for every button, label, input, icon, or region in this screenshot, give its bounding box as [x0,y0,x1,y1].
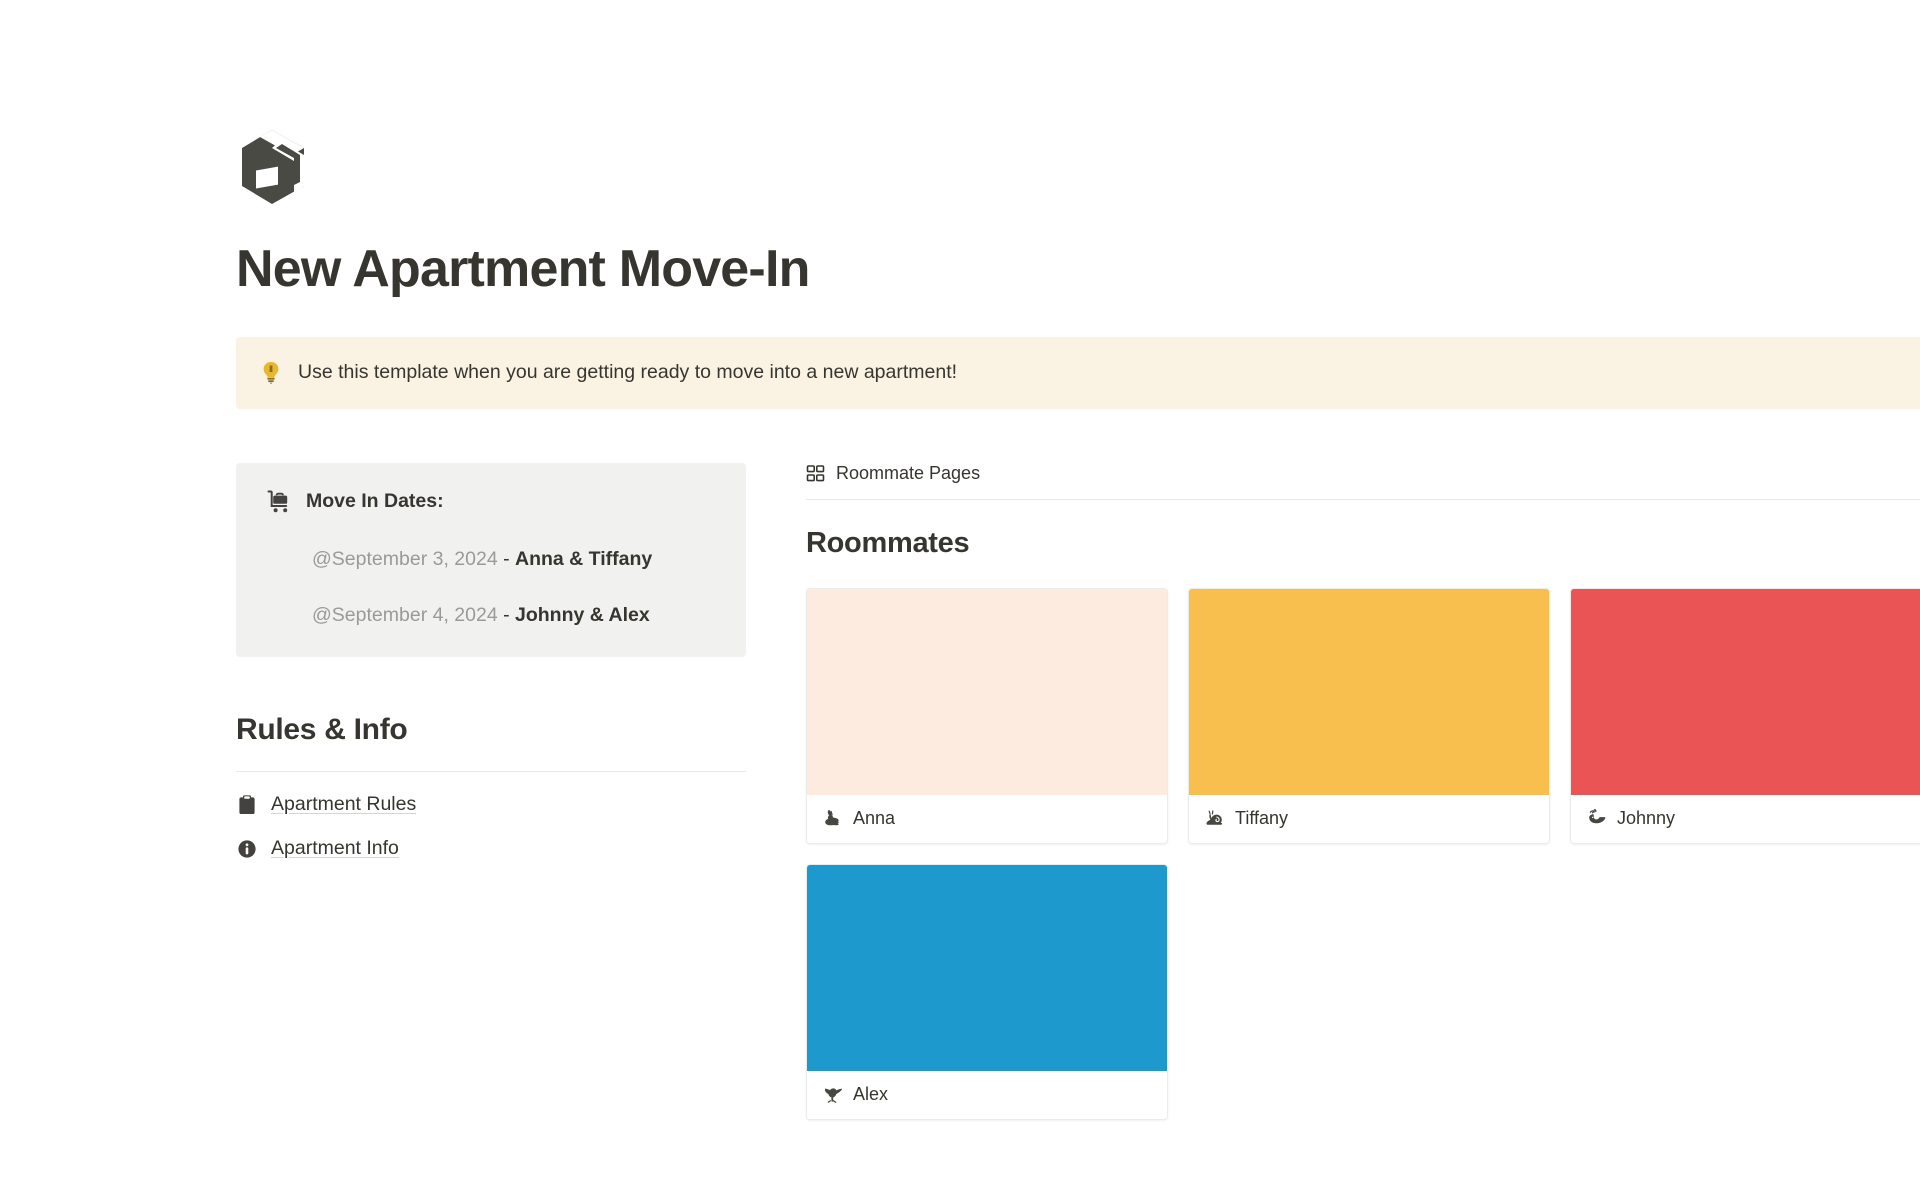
box-cube-icon[interactable] [236,128,308,208]
move-in-date-row: @September 4, 2024 - Johnny & Alex [266,604,716,627]
page-content: New Apartment Move-In Use this template … [110,128,1810,1120]
move-in-names: Johnny & Alex [515,604,650,626]
card-label: Anna [807,795,1167,843]
luggage-cart-icon [266,489,292,515]
rules-info-heading: Rules & Info [236,713,746,747]
divider [236,771,746,772]
gallery-card[interactable]: Johnny [1570,588,1920,844]
sidebar-link-label: Apartment Rules [271,793,416,816]
sidebar-link-apartment-info[interactable]: Apartment Info [236,837,746,860]
card-name: Tiffany [1235,808,1288,829]
tab-roommate-pages[interactable]: Roommate Pages [806,463,980,484]
callout-text: Use this template when you are getting r… [298,359,957,385]
info-circle-icon [236,838,258,860]
move-in-date[interactable]: @September 3, 2024 [312,548,498,570]
gallery-card[interactable]: Alex [806,864,1168,1120]
rabbit-icon [823,808,843,828]
sidebar-link-apartment-rules[interactable]: Apartment Rules [236,793,746,816]
move-in-dates-header: Move In Dates: [266,489,716,515]
card-name: Johnny [1617,808,1675,829]
roommates-gallery: Anna [806,588,1920,1120]
move-in-date[interactable]: @September 4, 2024 [312,604,498,626]
move-in-dates-title: Move In Dates: [306,490,444,513]
whale-icon [1587,808,1607,828]
lightbulb-icon [260,360,282,384]
right-column: Roommate Pages Roommates [746,463,1920,1120]
page-title: New Apartment Move-In [236,241,1684,298]
clipboard-icon [236,794,258,816]
callout-banner: Use this template when you are getting r… [236,337,1920,408]
gallery-card[interactable]: Anna [806,588,1168,844]
card-name: Alex [853,1084,888,1105]
gallery-grid-icon [806,464,825,483]
gallery-card[interactable]: Tiffany [1188,588,1550,844]
roommate-pages-tabbar: Roommate Pages [806,463,1920,500]
notion-page: New Apartment Move-In Use this template … [0,128,1920,1199]
left-column: Move In Dates: @September 3, 2024 - Anna… [236,463,746,1120]
move-in-names: Anna & Tiffany [515,548,652,570]
card-cover [1571,589,1920,795]
card-label: Johnny [1571,795,1920,843]
card-cover [807,589,1167,795]
move-in-separator: - [498,604,515,626]
move-in-date-row: @September 3, 2024 - Anna & Tiffany [266,548,716,571]
card-label: Alex [807,1071,1167,1119]
roommates-heading: Roommates [806,527,1920,560]
sidebar-link-label: Apartment Info [271,837,399,860]
body-columns: Move In Dates: @September 3, 2024 - Anna… [236,463,1684,1120]
card-cover [807,865,1167,1071]
snail-icon [1205,808,1225,828]
move-in-separator: - [498,548,515,570]
move-in-dates-block: Move In Dates: @September 3, 2024 - Anna… [236,463,746,658]
tab-label: Roommate Pages [836,463,980,484]
card-cover [1189,589,1549,795]
chicken-icon [823,1084,843,1104]
card-label: Tiffany [1189,795,1549,843]
card-name: Anna [853,808,895,829]
